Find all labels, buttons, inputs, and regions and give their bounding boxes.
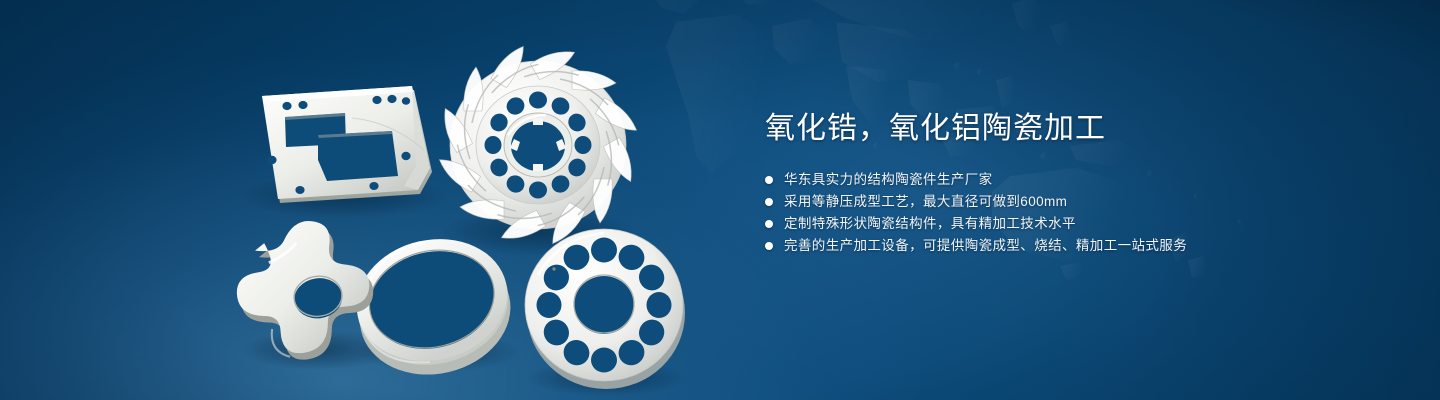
feature-list: 华东具实力的结构陶瓷件生产厂家 采用等静压成型工艺，最大直径可做到600mm 定…: [765, 169, 1385, 257]
list-item: 华东具实力的结构陶瓷件生产厂家: [765, 169, 1385, 191]
list-item-label: 采用等静压成型工艺，最大直径可做到600mm: [784, 191, 1067, 213]
list-item-label: 定制特殊形状陶瓷结构件，具有精加工技术水平: [784, 213, 1076, 235]
bullet-dot-icon: [765, 242, 773, 250]
list-item-label: 完善的生产加工设备，可提供陶瓷成型、烧结、精加工一站式服务: [784, 235, 1187, 257]
part-flat-plate: [262, 86, 432, 203]
product-photo: [0, 0, 760, 400]
list-item-label: 华东具实力的结构陶瓷件生产厂家: [784, 169, 993, 191]
bullet-dot-icon: [765, 220, 773, 228]
bullet-dot-icon: [765, 176, 773, 184]
page-title: 氧化锆，氧化铝陶瓷加工: [765, 110, 1385, 148]
list-item: 完善的生产加工设备，可提供陶瓷成型、烧结、精加工一站式服务: [765, 235, 1385, 257]
list-item: 定制特殊形状陶瓷结构件，具有精加工技术水平: [765, 213, 1385, 235]
copy-block: 氧化锆，氧化铝陶瓷加工 华东具实力的结构陶瓷件生产厂家 采用等静压成型工艺，最大…: [765, 110, 1385, 257]
bullet-dot-icon: [765, 198, 773, 206]
part-perforated-disc: [525, 229, 685, 389]
list-item: 采用等静压成型工艺，最大直径可做到600mm: [765, 191, 1385, 213]
banner: 氧化锆，氧化铝陶瓷加工 华东具实力的结构陶瓷件生产厂家 采用等静压成型工艺，最大…: [0, 0, 1440, 400]
